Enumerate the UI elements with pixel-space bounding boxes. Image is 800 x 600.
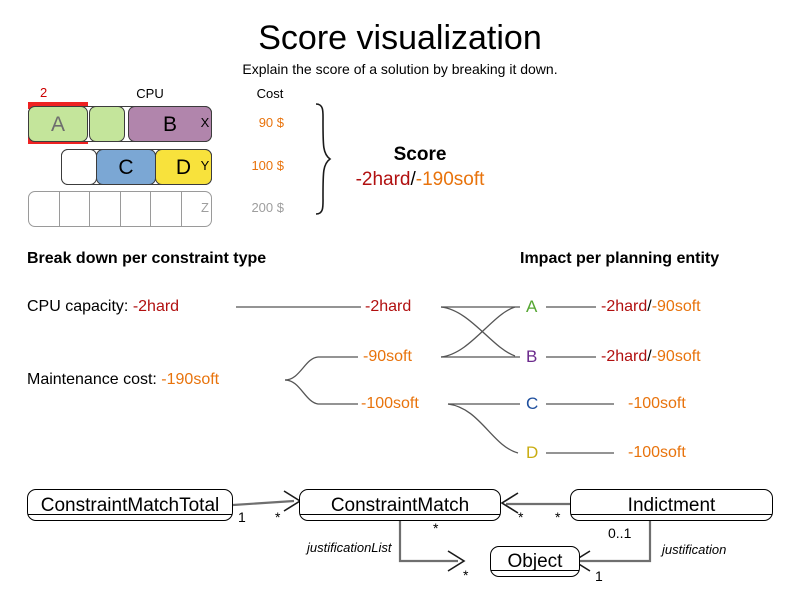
column-header-cost: Cost (240, 86, 300, 101)
entity-letter-b[interactable]: B (526, 347, 537, 367)
uml-class-diagram: ConstraintMatchTotal ConstraintMatch Ind… (0, 480, 800, 600)
entity-impact-b-hard: -2hard (601, 348, 647, 365)
uml-class-object-label: Object (508, 552, 563, 571)
grid-divider (120, 192, 121, 226)
process-cell-c[interactable]: C (96, 149, 156, 185)
uml-class-divider (300, 514, 500, 515)
process-cell-x-filler[interactable] (89, 106, 125, 142)
entity-impact-d: -100soft (628, 444, 686, 462)
uml-class-indictment-label: Indictment (628, 496, 716, 515)
entity-impact-a-hard: -2hard (601, 298, 647, 315)
constraint-cpu-capacity[interactable]: CPU capacity: -2hard (27, 298, 179, 316)
match-score-90soft[interactable]: -90soft (363, 348, 412, 366)
constraint-maintenance-cost-score: -190soft (161, 371, 219, 388)
multiplicity-cm-obj-source: * (433, 520, 438, 536)
match-score-2hard[interactable]: -2hard (365, 298, 411, 316)
constraint-cpu-capacity-label: CPU capacity: (27, 298, 133, 315)
breakdown-graph: CPU capacity: -2hard Maintenance cost: -… (0, 280, 800, 480)
uml-class-constraintmatch[interactable]: ConstraintMatch (299, 489, 501, 521)
entity-impact-c: -100soft (628, 395, 686, 413)
uml-class-constraintmatchtotal[interactable]: ConstraintMatchTotal (27, 489, 233, 521)
entity-impact-b-soft: -90soft (652, 348, 701, 365)
constraint-maintenance-cost[interactable]: Maintenance cost: -190soft (27, 371, 219, 389)
entity-impact-b: -2hard/-90soft (601, 348, 701, 366)
multiplicity-ind-cm-target: * (518, 509, 523, 525)
constraint-cpu-capacity-score: -2hard (133, 298, 179, 315)
match-score-100soft[interactable]: -100soft (361, 395, 419, 413)
grid-divider (181, 192, 182, 226)
entity-letter-c[interactable]: C (526, 394, 538, 414)
multiplicity-cmt-target: * (275, 509, 280, 525)
entity-impact-a-soft: -90soft (652, 298, 701, 315)
process-cell-y-filler[interactable] (61, 149, 97, 185)
multiplicity-ind-obj-source: 0..1 (608, 525, 631, 541)
association-label-justification: justification (662, 542, 726, 557)
solution-visual: CPU Cost 2 A B C D X Y Z 90 $ 100 $ 200 … (0, 86, 360, 226)
multiplicity-cmt-source: 1 (238, 509, 246, 525)
grid-divider (89, 192, 90, 226)
score-value: -2hard/-190soft (320, 169, 520, 191)
grid-divider (59, 192, 60, 226)
uml-class-indictment[interactable]: Indictment (570, 489, 773, 521)
machine-cost-z: 200 $ (218, 200, 284, 215)
uml-class-divider (571, 514, 772, 515)
machine-cost-y: 100 $ (218, 158, 284, 173)
score-title: Score (330, 144, 510, 166)
uml-class-divider (28, 514, 232, 515)
machine-label-x: X (196, 115, 214, 130)
score-hard: -2hard (356, 169, 411, 190)
association-label-justificationlist: justificationList (307, 540, 392, 555)
uml-class-object[interactable]: Object (490, 546, 580, 577)
column-header-cpu: CPU (120, 86, 180, 101)
machine-label-y: Y (196, 158, 214, 173)
heading-breakdown-per-constraint-type: Break down per constraint type (27, 250, 266, 268)
machine-label-z: Z (196, 200, 214, 215)
multiplicity-cm-obj-target: * (463, 567, 468, 583)
grid-divider (150, 192, 151, 226)
uml-class-constraintmatch-label: ConstraintMatch (331, 496, 469, 515)
multiplicity-ind-obj-target: 1 (595, 568, 603, 584)
score-soft: -190soft (416, 169, 485, 190)
entity-letter-a[interactable]: A (526, 297, 537, 317)
overload-badge: 2 (40, 85, 47, 100)
process-cell-a[interactable]: A (28, 106, 88, 142)
page-subtitle: Explain the score of a solution by break… (0, 60, 800, 78)
multiplicity-ind-cm-source: * (555, 509, 560, 525)
uml-class-divider (491, 570, 579, 571)
uml-class-constraintmatchtotal-label: ConstraintMatchTotal (41, 496, 219, 515)
page-title: Score visualization (0, 18, 800, 58)
constraint-maintenance-cost-label: Maintenance cost: (27, 371, 161, 388)
heading-impact-per-planning-entity: Impact per planning entity (520, 250, 719, 268)
entity-impact-a: -2hard/-90soft (601, 298, 701, 316)
machine-cost-x: 90 $ (218, 115, 284, 130)
entity-letter-d[interactable]: D (526, 443, 538, 463)
